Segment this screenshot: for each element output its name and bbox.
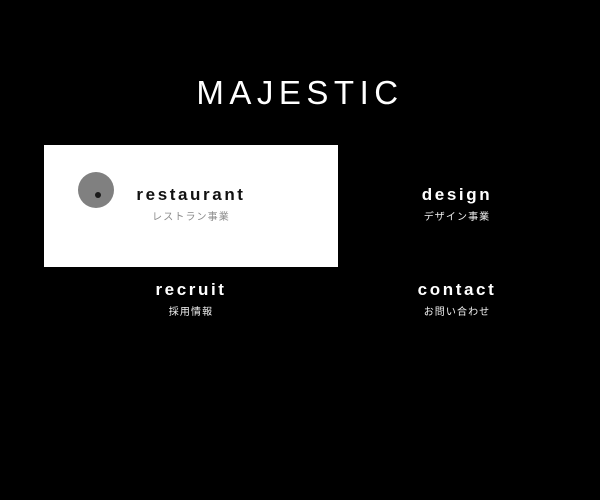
menu-item-design-label: design [338, 185, 576, 205]
menu-item-restaurant-text: restaurant レストラン事業 [44, 185, 338, 225]
menu-item-design-sublabel: デザイン事業 [338, 210, 576, 225]
menu-item-recruit[interactable]: recruit 採用情報 [44, 267, 338, 355]
menu-item-contact-text: contact お問い合わせ [338, 280, 576, 320]
page-root: MAJESTIC restaurant レストラン事業 design デザイン事… [0, 0, 600, 500]
page-title: MAJESTIC [0, 74, 600, 112]
menu-item-recruit-text: recruit 採用情報 [44, 280, 338, 320]
menu-grid: restaurant レストラン事業 design デザイン事業 recruit… [0, 145, 600, 355]
menu-item-restaurant[interactable]: restaurant レストラン事業 [44, 145, 338, 267]
menu-item-contact-label: contact [338, 280, 576, 300]
menu-item-contact-sublabel: お問い合わせ [338, 305, 576, 320]
menu-item-restaurant-sublabel: レストラン事業 [44, 210, 338, 225]
menu-item-design[interactable]: design デザイン事業 [338, 145, 576, 267]
menu-item-restaurant-label: restaurant [44, 185, 338, 205]
menu-item-contact[interactable]: contact お問い合わせ [338, 267, 576, 355]
menu-item-recruit-label: recruit [44, 280, 338, 300]
menu-item-recruit-sublabel: 採用情報 [44, 305, 338, 320]
menu-item-design-text: design デザイン事業 [338, 185, 576, 225]
